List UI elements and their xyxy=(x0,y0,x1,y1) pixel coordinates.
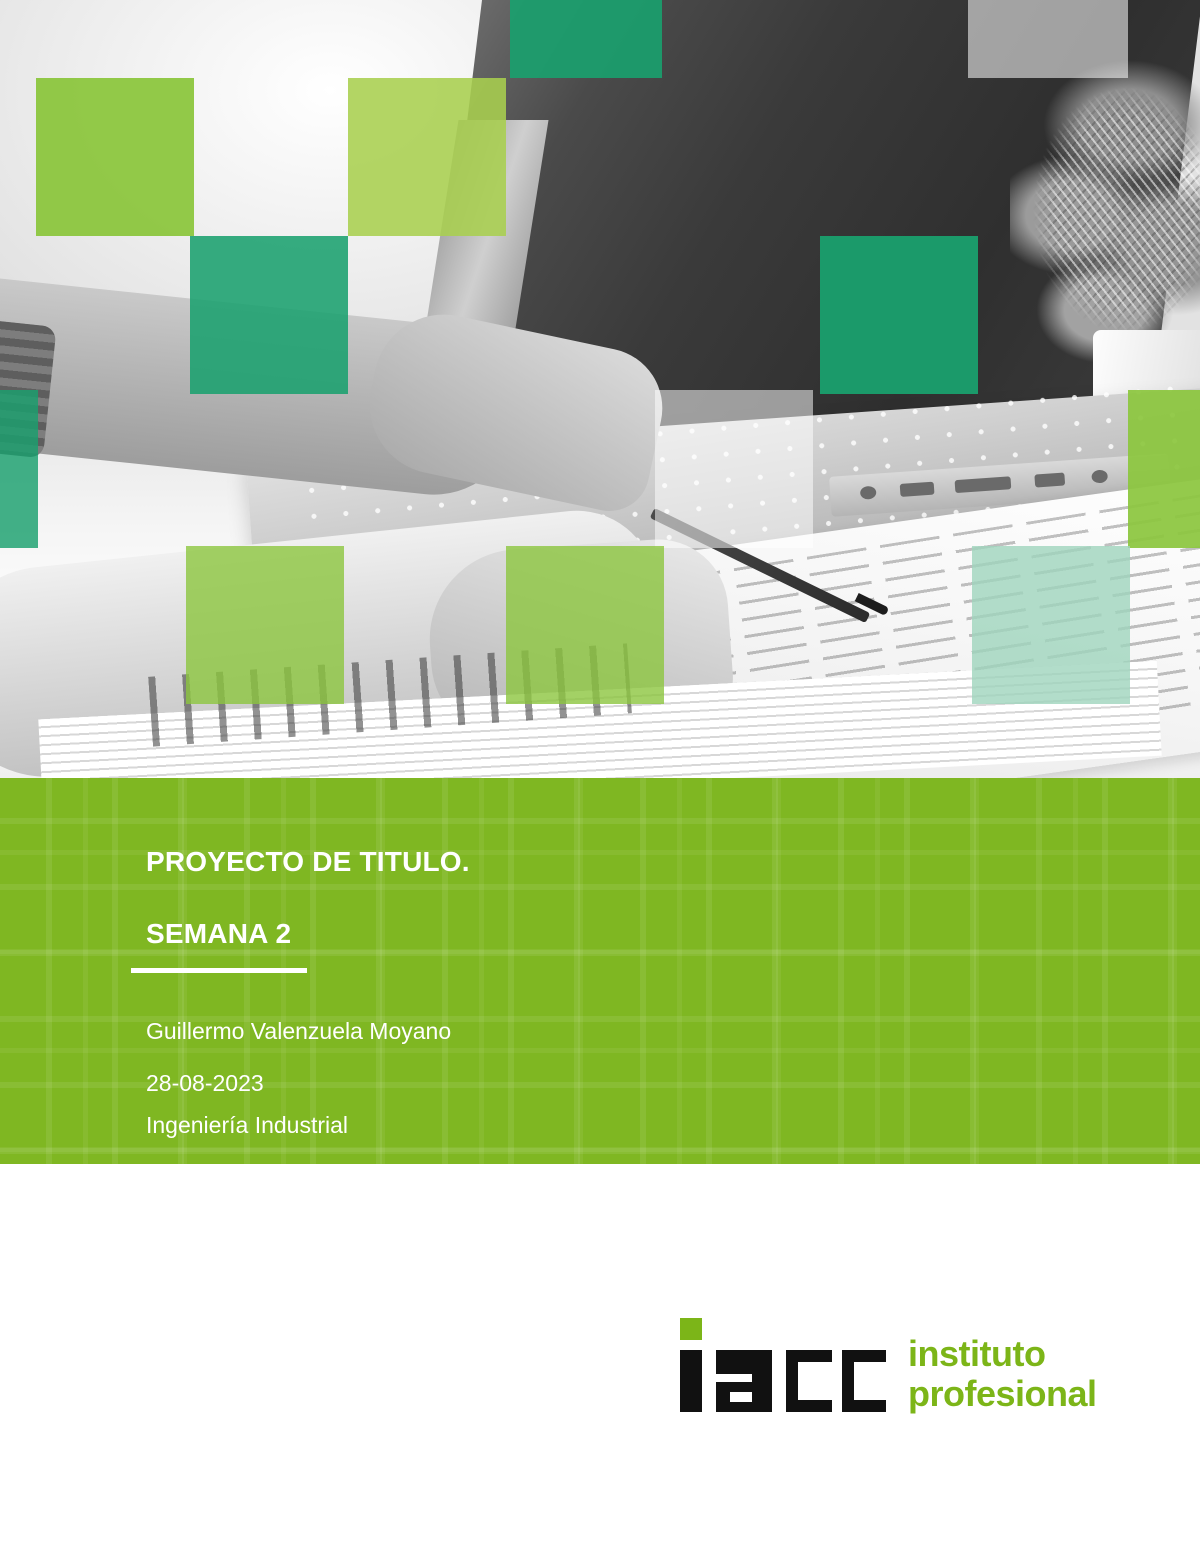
tile-green-mid-1 xyxy=(348,78,506,236)
tile-teal-edge-left xyxy=(0,390,38,548)
tile-white-top-right xyxy=(968,0,1128,78)
tile-green-left-1 xyxy=(36,78,194,236)
title-divider xyxy=(131,968,307,973)
iacc-logo: instituto profesional xyxy=(676,1316,1097,1416)
iacc-wordmark-icon xyxy=(676,1316,886,1416)
tile-green-edge-right xyxy=(1128,390,1200,548)
tile-teal-pale-bottom xyxy=(972,546,1130,704)
decorative-tile-overlay xyxy=(0,0,1200,778)
logo-line-profesional: profesional xyxy=(908,1376,1097,1412)
tile-green-bottom-1 xyxy=(186,546,344,704)
page-subtitle: SEMANA 2 xyxy=(146,918,291,950)
title-band: PROYECTO DE TITULO. SEMANA 2 Guillermo V… xyxy=(0,778,1200,1164)
author-name: Guillermo Valenzuela Moyano xyxy=(146,1018,451,1045)
tile-green-bottom-2 xyxy=(506,546,664,704)
tile-white-center xyxy=(655,390,813,548)
tile-teal-top-center xyxy=(510,0,662,78)
career-name: Ingeniería Industrial xyxy=(146,1112,348,1139)
tile-teal-mid-left xyxy=(190,236,348,394)
cover-hero-image xyxy=(0,0,1200,778)
logo-line-instituto: instituto xyxy=(908,1336,1097,1372)
submission-date: 28-08-2023 xyxy=(146,1070,264,1097)
page-title: PROYECTO DE TITULO. xyxy=(146,846,470,878)
tile-teal-right xyxy=(820,236,978,394)
